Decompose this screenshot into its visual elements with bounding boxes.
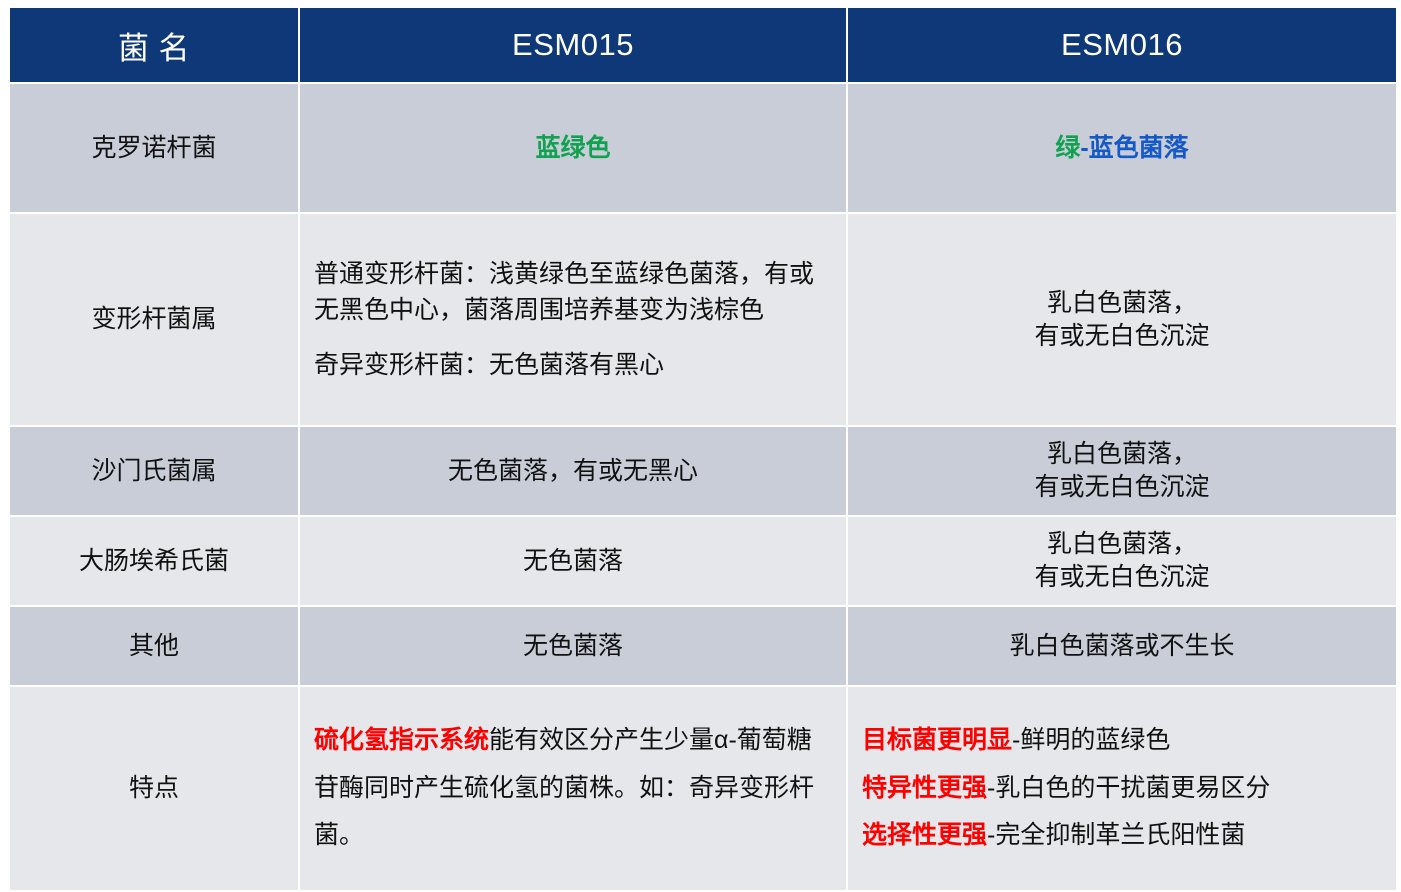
cell-esm015: 蓝绿色 — [300, 84, 846, 212]
header-label-esm016: ESM016 — [1061, 27, 1183, 62]
paragraph-spacer — [314, 329, 832, 347]
cell-strain-name: 特点 — [10, 687, 298, 890]
cell-esm015: 无色菌落 — [300, 607, 846, 685]
feature-value: -乳白色的干扰菌更易区分 — [987, 774, 1270, 802]
description-line: 乳白色菌落， — [858, 287, 1386, 320]
feature-line: 目标菌更明显-鲜明的蓝绿色 — [862, 717, 1386, 765]
feature-line: 选择性更强-完全抑制革兰氏阳性菌 — [862, 812, 1386, 860]
cell-esm015: 硫化氢指示系统能有效区分产生少量α-葡萄糖苷酶同时产生硫化氢的菌株。如：奇异变形… — [300, 687, 846, 890]
feature-value: -鲜明的蓝绿色 — [1012, 726, 1170, 754]
table-row: 大肠埃希氏菌 无色菌落 乳白色菌落， 有或无白色沉淀 — [10, 517, 1396, 605]
feature-value: -完全抑制革兰氏阳性菌 — [987, 821, 1245, 849]
colony-color-text: 蓝绿色 — [535, 134, 610, 162]
cell-strain-name: 克罗诺杆菌 — [10, 84, 298, 212]
table-row: 其他 无色菌落 乳白色菌落或不生长 — [10, 607, 1396, 685]
cell-esm016: 绿-蓝色菌落 — [848, 84, 1396, 212]
description-line: 有或无白色沉淀 — [858, 471, 1386, 504]
header-label-strain-name: 菌 名 — [118, 31, 190, 66]
table-header: 菌 名 ESM015 ESM016 — [10, 8, 1396, 82]
highlight-text: 硫化氢指示系统 — [314, 726, 489, 754]
cell-strain-name: 沙门氏菌属 — [10, 427, 298, 515]
header-cell-strain-name: 菌 名 — [10, 8, 298, 82]
feature-line: 特异性更强-乳白色的干扰菌更易区分 — [862, 765, 1386, 813]
colony-color-text-blue: -蓝色菌落 — [1080, 134, 1188, 162]
table-row: 克罗诺杆菌 蓝绿色 绿-蓝色菌落 — [10, 84, 1396, 212]
feature-key: 特异性更强 — [862, 774, 987, 802]
cell-esm015: 无色菌落 — [300, 517, 846, 605]
description-line: 奇异变形杆菌：无色菌落有黑心 — [314, 347, 832, 383]
feature-key: 目标菌更明显 — [862, 726, 1012, 754]
cell-esm015: 无色菌落，有或无黑心 — [300, 427, 846, 515]
comparison-table-container: 菌 名 ESM015 ESM016 克罗诺杆菌 蓝绿色 绿-蓝色菌落 变形杆菌属… — [8, 6, 1392, 884]
table-row: 特点 硫化氢指示系统能有效区分产生少量α-葡萄糖苷酶同时产生硫化氢的菌株。如：奇… — [10, 687, 1396, 890]
header-row: 菌 名 ESM015 ESM016 — [10, 8, 1396, 82]
header-cell-esm015: ESM015 — [300, 8, 846, 82]
colony-color-text-green: 绿 — [1055, 134, 1080, 162]
feature-key: 选择性更强 — [862, 821, 987, 849]
description-line: 有或无白色沉淀 — [858, 320, 1386, 353]
table-body: 克罗诺杆菌 蓝绿色 绿-蓝色菌落 变形杆菌属 普通变形杆菌：浅黄绿色至蓝绿色菌落… — [10, 84, 1396, 890]
cell-esm015: 普通变形杆菌：浅黄绿色至蓝绿色菌落，有或无黑色中心，菌落周围培养基变为浅棕色 奇… — [300, 214, 846, 425]
cell-esm016: 乳白色菌落或不生长 — [848, 607, 1396, 685]
cell-strain-name: 其他 — [10, 607, 298, 685]
cell-esm016: 乳白色菌落， 有或无白色沉淀 — [848, 214, 1396, 425]
description-line: 普通变形杆菌：浅黄绿色至蓝绿色菌落，有或无黑色中心，菌落周围培养基变为浅棕色 — [314, 256, 832, 329]
cell-strain-name: 变形杆菌属 — [10, 214, 298, 425]
header-label-esm015: ESM015 — [512, 27, 634, 62]
strain-comparison-table: 菌 名 ESM015 ESM016 克罗诺杆菌 蓝绿色 绿-蓝色菌落 变形杆菌属… — [8, 6, 1398, 892]
cell-esm016: 乳白色菌落， 有或无白色沉淀 — [848, 427, 1396, 515]
cell-strain-name: 大肠埃希氏菌 — [10, 517, 298, 605]
description-line: 有或无白色沉淀 — [858, 561, 1386, 594]
table-row: 沙门氏菌属 无色菌落，有或无黑心 乳白色菌落， 有或无白色沉淀 — [10, 427, 1396, 515]
cell-esm016: 乳白色菌落， 有或无白色沉淀 — [848, 517, 1396, 605]
header-cell-esm016: ESM016 — [848, 8, 1396, 82]
cell-esm016: 目标菌更明显-鲜明的蓝绿色 特异性更强-乳白色的干扰菌更易区分 选择性更强-完全… — [848, 687, 1396, 890]
description-line: 乳白色菌落， — [858, 438, 1386, 471]
table-row: 变形杆菌属 普通变形杆菌：浅黄绿色至蓝绿色菌落，有或无黑色中心，菌落周围培养基变… — [10, 214, 1396, 425]
description-line: 乳白色菌落， — [858, 528, 1386, 561]
